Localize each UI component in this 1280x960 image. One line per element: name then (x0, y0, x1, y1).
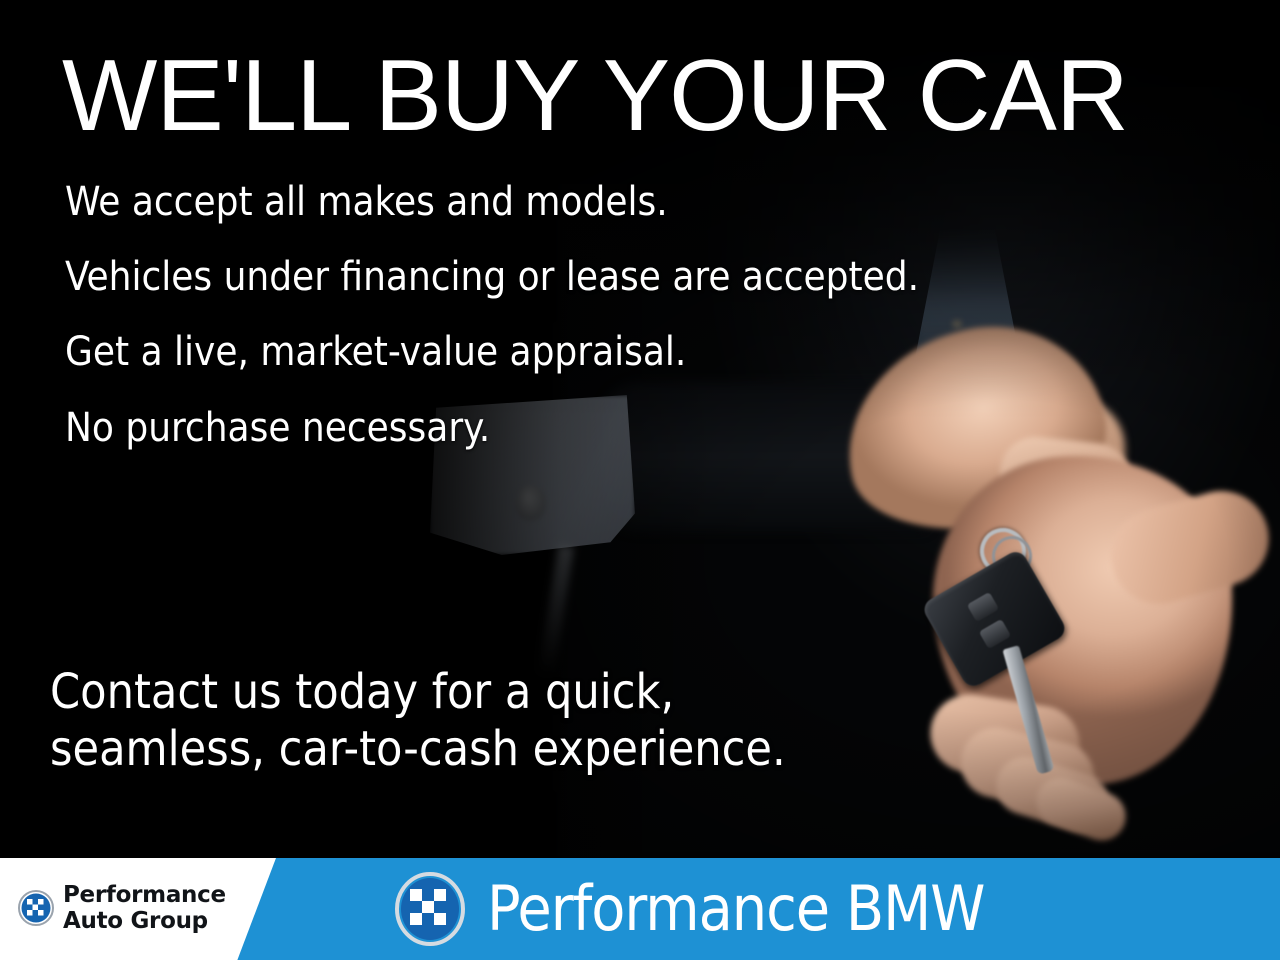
performance-bmw-logo[interactable]: Performance BMW (393, 872, 984, 946)
performance-auto-group-logo[interactable]: Performance Auto Group (18, 882, 226, 934)
brand-name-block: Performance Auto Group (63, 882, 226, 934)
ad-call-to-action: Contact us today for a quick, seamless, … (50, 664, 786, 777)
ad-headline: WE'LL BUY YOUR CAR (62, 46, 1128, 147)
cta-line-2: seamless, car-to-cash experience. (50, 721, 786, 778)
benefit-item: Vehicles under financing or lease are ac… (65, 256, 919, 299)
we-buy-your-car-ad-banner: WE'LL BUY YOUR CAR We accept all makes a… (0, 0, 1280, 960)
checkered-flag-circle-icon (18, 890, 54, 926)
benefit-item: Get a live, market-value appraisal. (65, 331, 919, 374)
cta-line-1: Contact us today for a quick, (50, 664, 786, 721)
benefit-item: No purchase necessary. (65, 407, 919, 450)
brand-name-line-2: Auto Group (63, 908, 226, 934)
ad-benefit-list: We accept all makes and models. Vehicles… (65, 181, 919, 482)
brand-name-line-1: Performance (63, 882, 226, 908)
footer-brand-bar: Performance Auto Group Performance BMW (0, 858, 1280, 960)
checkered-flag-circle-icon (393, 872, 467, 946)
ad-copy-layer: WE'LL BUY YOUR CAR We accept all makes a… (0, 0, 1280, 960)
brand-name: Performance BMW (487, 878, 984, 940)
benefit-item: We accept all makes and models. (65, 181, 919, 224)
